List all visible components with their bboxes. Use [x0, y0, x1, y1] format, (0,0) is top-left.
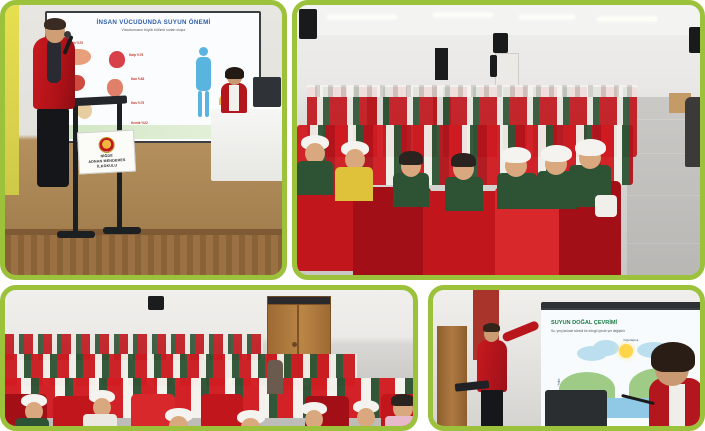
slide2-title: SUYUN DOĞAL ÇEVRİMİ	[551, 320, 617, 326]
wall-panel-dark	[490, 55, 497, 77]
student-body-3	[497, 173, 537, 209]
photo-content-water-cycle-slide: SUYUN DOĞAL ÇEVRİMİ Su, yeryüzünde sürek…	[433, 290, 700, 426]
podium-sign-line1: NİĞDE	[100, 153, 113, 158]
slide-subtitle: Vücudumuzun büyük bölümü sudan oluşur	[52, 28, 255, 32]
muscle-graphic	[107, 79, 123, 97]
photo-panel-bottom-left	[0, 285, 418, 431]
student-hair-2	[451, 153, 476, 167]
moderator-shirt	[669, 384, 685, 426]
wall-side-panel	[5, 5, 19, 195]
photo-content-audience-wide	[5, 290, 413, 426]
ceiling-light-1	[327, 15, 397, 19]
wall-speaker	[148, 296, 164, 310]
muscle-pct-label: Kas %75	[131, 101, 144, 105]
podium-sign: NİĞDE ADNAN MENDERES İLKOKULU	[77, 130, 136, 175]
heart-pct-label: Kalp %75	[129, 53, 143, 57]
speaker-vest	[47, 39, 61, 83]
student-cap-4	[541, 145, 572, 162]
crowd-back-caps	[307, 85, 637, 97]
student-hair-g	[391, 394, 413, 406]
monitor	[545, 390, 607, 426]
moderator-hair	[651, 342, 695, 372]
slide2-subtitle: Su, yeryüzünde sürekli bir döngü içinde …	[551, 329, 625, 333]
lectern-foot-right	[103, 227, 141, 234]
slide2-label-3: Yağış	[556, 379, 560, 386]
slide2-label-1: Yoğunlaşma	[623, 338, 638, 342]
student-body-6	[335, 167, 373, 201]
stage-front-panel	[5, 235, 282, 275]
microphone-head-icon	[64, 31, 71, 38]
door-handle-icon	[292, 342, 297, 347]
ceiling-light-4	[597, 17, 657, 21]
student-body-7	[297, 161, 333, 195]
student-cap-3	[501, 147, 531, 163]
school-crest-icon	[98, 136, 115, 153]
student-body-1	[393, 173, 429, 207]
ceiling-light-3	[519, 15, 575, 19]
presenter-legs	[481, 390, 503, 426]
speaker-box-right	[689, 27, 700, 53]
cloud-2	[593, 340, 619, 356]
speaker-hair	[44, 18, 66, 30]
student-body-g	[385, 416, 413, 426]
side-door	[437, 326, 467, 426]
lectern-foot-left	[57, 231, 95, 238]
photo-panel-bottom-right: SUYUN DOĞAL ÇEVRİMİ Su, yeryüzünde sürek…	[428, 285, 705, 431]
photo-panel-top-left: İNSAN VÜCUDUNDA SUYUN ÖNEMİ Vücudumuzun …	[0, 0, 287, 280]
lectern-post-left	[73, 103, 78, 233]
student-body-b	[83, 414, 117, 426]
assistant-person	[221, 69, 247, 113]
wall-banner	[435, 48, 448, 80]
student-body-2	[445, 177, 483, 211]
student-face-f	[357, 408, 375, 426]
speaker-box-left	[299, 9, 317, 39]
draped-table	[211, 109, 282, 181]
blood-pct-label: Kan %83	[131, 77, 144, 81]
speaker-legs	[37, 107, 69, 187]
podium-sign-line3: İLKOKULU	[97, 163, 117, 168]
photo-collage: İNSAN VÜCUDUNDA SUYUN ÖNEMİ Vücudumuzun …	[0, 0, 705, 431]
sun-icon	[619, 344, 633, 358]
photo-panel-top-right	[292, 0, 705, 280]
presenter-hair	[483, 323, 500, 332]
student-face-e	[305, 410, 323, 426]
standing-teacher-right	[685, 97, 700, 167]
student-body-a	[15, 418, 49, 426]
photo-content-audience-hall	[297, 5, 700, 275]
seat-row-front-4	[201, 394, 243, 426]
ceiling-light-2	[433, 13, 493, 17]
slide-title: İNSAN VÜCUDUNDA SUYUN ÖNEMİ	[52, 19, 255, 26]
heart-graphic	[109, 51, 125, 68]
student-bag	[595, 195, 617, 217]
speaker-box-center	[493, 33, 508, 53]
laptop	[253, 77, 281, 107]
student-hair-1	[399, 151, 423, 165]
student-cap-5	[575, 139, 606, 156]
photo-content-presenter-lectern: İNSAN VÜCUDUNDA SUYUN ÖNEMİ Vücudumuzun …	[5, 5, 282, 275]
teacher-standing	[267, 360, 283, 394]
